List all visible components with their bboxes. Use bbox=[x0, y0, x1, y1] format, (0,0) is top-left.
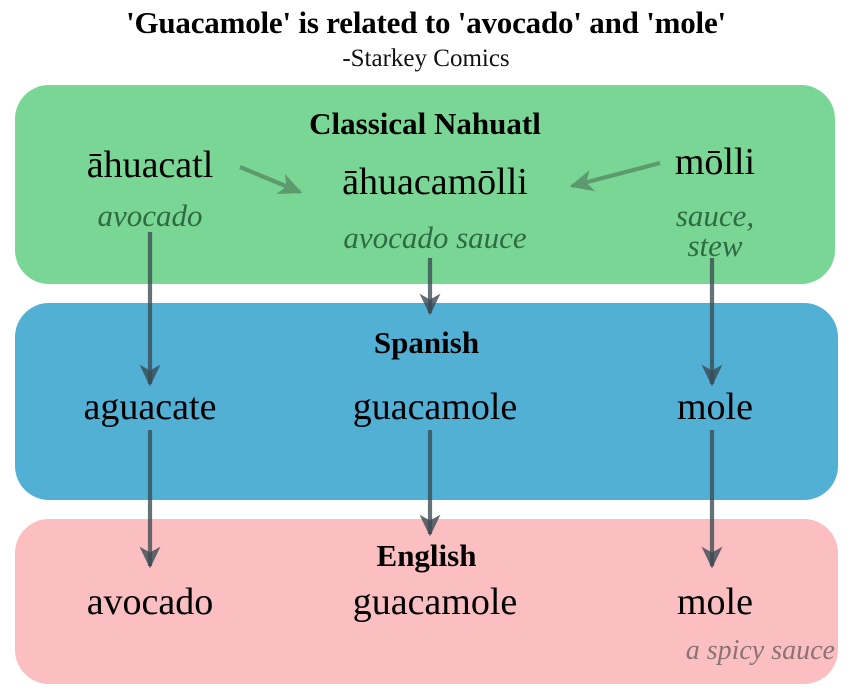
panel-heading-nahuatl: Classical Nahuatl bbox=[15, 106, 835, 142]
term-ahuacamolli: āhuacamōlli bbox=[290, 160, 580, 204]
page-title: 'Guacamole' is related to 'avocado' and … bbox=[0, 3, 852, 43]
title-block: 'Guacamole' is related to 'avocado' and … bbox=[0, 0, 852, 74]
gloss-ahuacatl: avocado bbox=[30, 198, 270, 234]
term-guacamole-spanish: guacamole bbox=[290, 385, 580, 429]
gloss-ahuacamolli: avocado sauce bbox=[285, 220, 585, 256]
term-aguacate: aguacate bbox=[30, 385, 270, 429]
gloss-mole-english: a spicy sauce bbox=[580, 635, 835, 667]
panel-heading-spanish: Spanish bbox=[15, 325, 838, 361]
term-ahuacatl: āhuacatl bbox=[30, 143, 270, 187]
gloss-molli-line2: stew bbox=[600, 228, 830, 264]
term-guacamole-english: guacamole bbox=[290, 580, 580, 624]
term-molli: mōlli bbox=[600, 140, 830, 184]
term-mole-spanish: mole bbox=[600, 385, 830, 429]
panel-heading-english: English bbox=[15, 538, 838, 574]
term-avocado-english: avocado bbox=[30, 580, 270, 624]
term-mole-english: mole bbox=[600, 580, 830, 624]
credit-line: -Starkey Comics bbox=[0, 44, 852, 74]
